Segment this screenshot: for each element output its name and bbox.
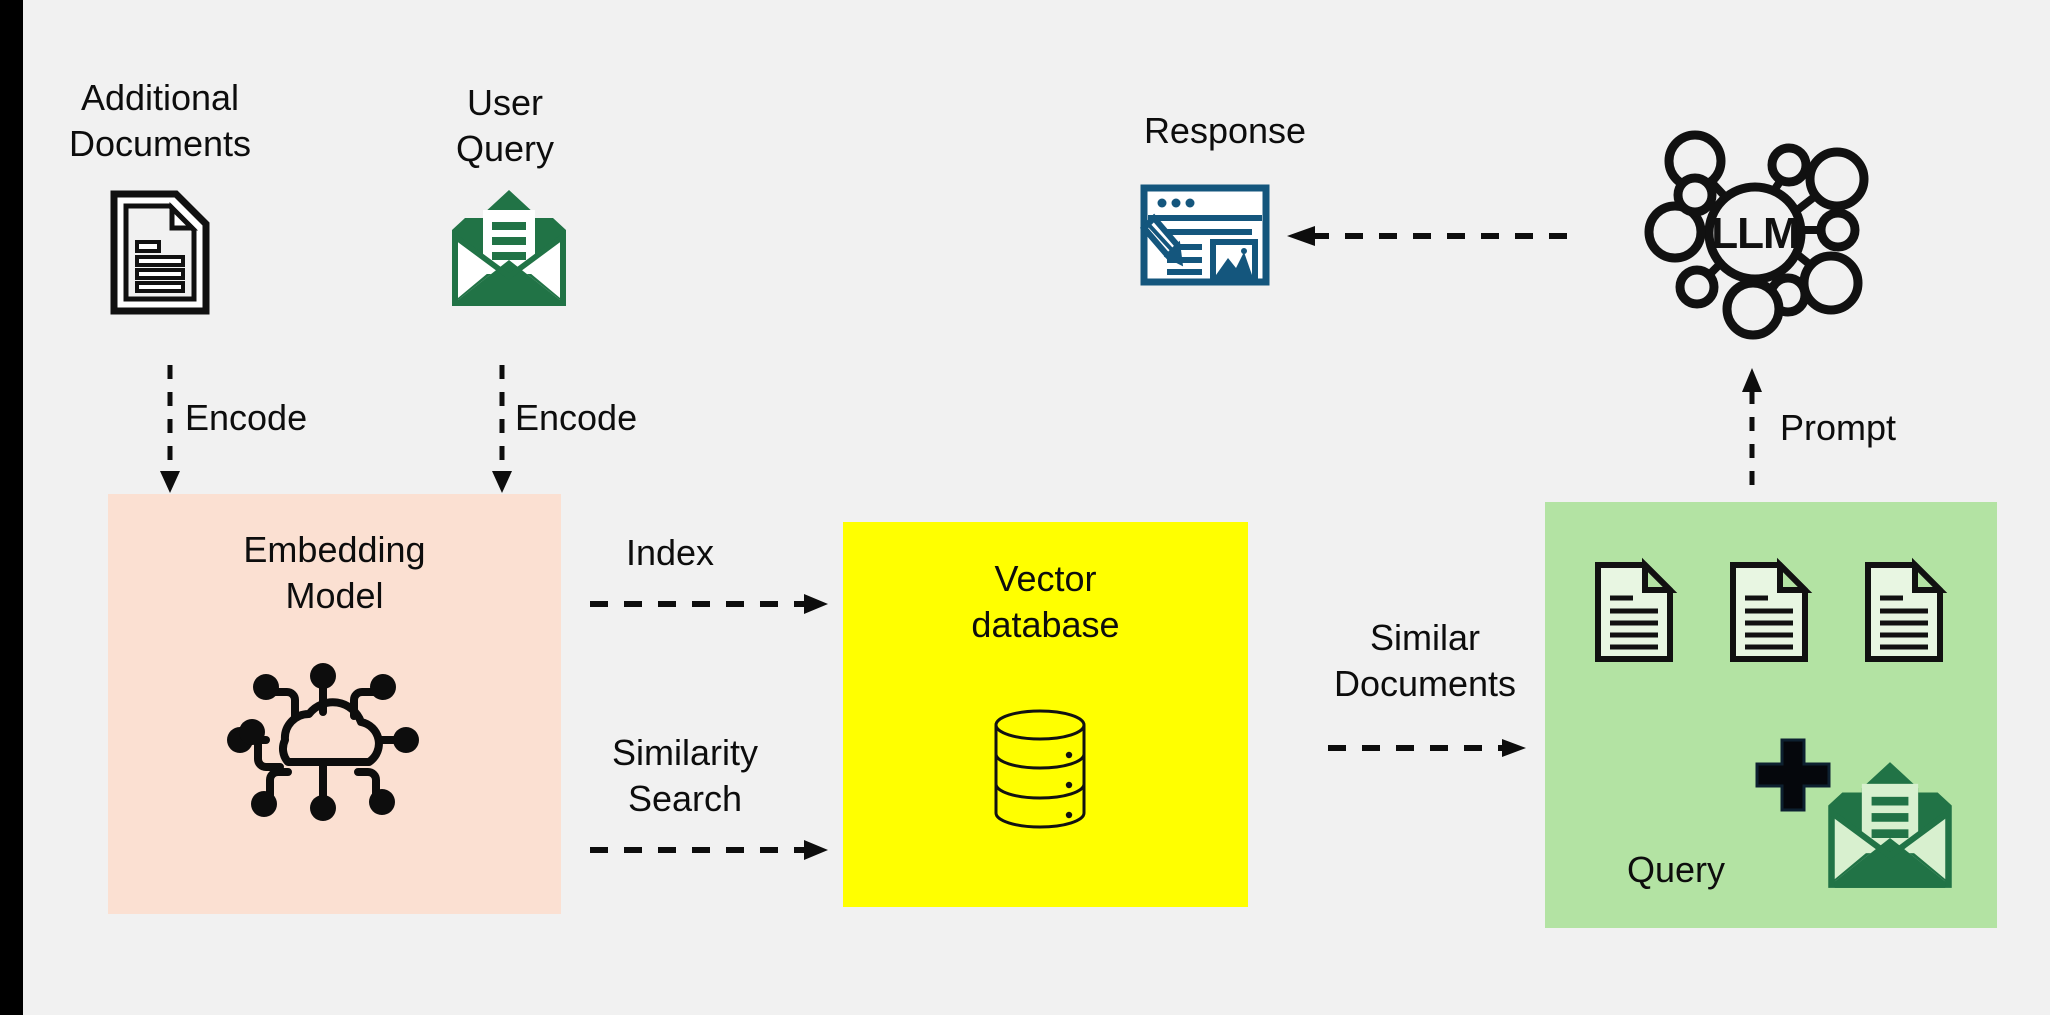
similarity-search-label: Similarity Search (575, 730, 795, 822)
similarity-search-arrow (590, 838, 830, 862)
encode-arrow-query (490, 365, 514, 495)
index-label: Index (560, 530, 780, 576)
left-black-bar (0, 0, 23, 1015)
document-icon (1595, 562, 1673, 662)
response-arrow (1285, 224, 1585, 248)
cloud-network-icon (228, 662, 418, 827)
similar-documents-label: Similar Documents (1300, 615, 1550, 707)
document-icon (110, 190, 210, 315)
browser-window-edit-icon (1140, 184, 1270, 286)
encode-arrow-documents (158, 365, 182, 495)
prompt-arrow (1740, 360, 1764, 500)
prompt-label: Prompt (1780, 405, 1980, 451)
index-arrow (590, 592, 830, 616)
diagram-canvas: Additional Documents Encode User Query (0, 0, 2050, 1015)
embedding-model-label: Embedding Model (108, 527, 561, 619)
encode-label-documents: Encode (185, 395, 335, 441)
retrieved-context-box[interactable]: Query (1545, 502, 1997, 928)
document-icon (1865, 562, 1943, 662)
llm-network-icon: LLM (1655, 135, 1855, 325)
response-label: Response (1110, 108, 1340, 154)
vector-database-label: Vector database (843, 556, 1248, 648)
database-cylinder-icon (993, 708, 1088, 833)
envelope-icon (450, 188, 568, 308)
similar-documents-arrow (1328, 736, 1528, 760)
query-label: Query (1450, 847, 1902, 893)
additional-documents-label: Additional Documents (45, 75, 275, 167)
user-query-label: User Query (425, 80, 585, 172)
document-icon (1730, 562, 1808, 662)
plus-icon (1755, 738, 1831, 812)
encode-label-query: Encode (515, 395, 665, 441)
svg-text:LLM: LLM (1711, 209, 1798, 258)
